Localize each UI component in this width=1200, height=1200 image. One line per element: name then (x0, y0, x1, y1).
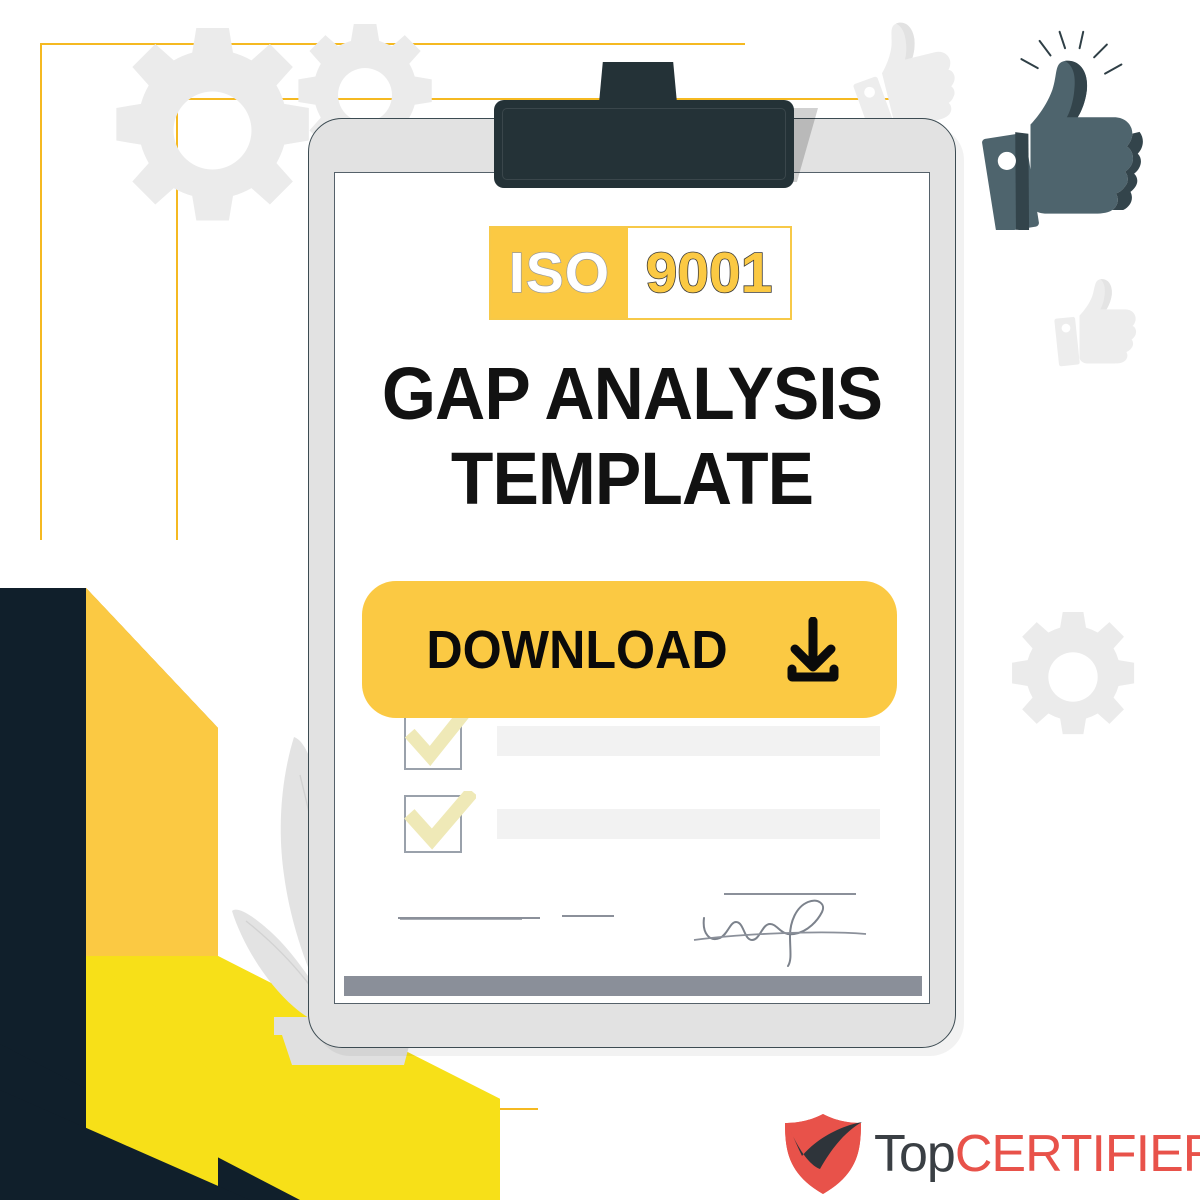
logo-text-certifier: CERTIFIER (955, 1125, 1200, 1183)
title-line-1: GAP ANALYSIS (352, 358, 912, 431)
iso-prefix-text: ISO (509, 245, 610, 302)
checkbox-2[interactable] (404, 795, 462, 853)
download-button[interactable]: DOWNLOAD (362, 581, 897, 718)
form-rule-1b (400, 918, 522, 920)
check-mark-icon (404, 791, 476, 861)
iso-number-text: 9001 (646, 245, 773, 302)
iso-standard-badge: ISO 9001 (489, 226, 792, 320)
topcertifier-logo[interactable]: TopCERTIFIER (782, 1112, 1200, 1196)
gear-icon-3 (1008, 612, 1138, 742)
paper-bottom-shadow (344, 976, 922, 996)
check-mark-icon (404, 708, 470, 776)
logo-wordmark: TopCERTIFIER (874, 1128, 1200, 1180)
shield-check-icon (782, 1112, 864, 1196)
logo-text-top: Top (874, 1125, 955, 1183)
download-button-label: DOWNLOAD (426, 619, 727, 681)
title-line-2: TEMPLATE (352, 443, 912, 516)
page-title: GAP ANALYSIS TEMPLATE (334, 358, 930, 515)
checklist-placeholder-1 (497, 726, 880, 756)
clipboard-clip-bar (494, 100, 794, 188)
checklist-item-1[interactable] (404, 712, 880, 770)
poster-canvas: ISO 9001 GAP ANALYSIS TEMPLATE (0, 0, 1200, 1200)
iso-badge-right: 9001 (628, 228, 790, 318)
signature-scribble-icon (690, 890, 870, 975)
gear-icon-1 (110, 28, 315, 233)
form-rule-2 (562, 915, 614, 917)
iso-badge-left: ISO (491, 228, 628, 318)
thumbs-up-icon-light-2 (1040, 274, 1144, 378)
checklist-item-2[interactable] (404, 795, 880, 853)
thumbs-up-icon-dark (968, 30, 1173, 230)
checkbox-1[interactable] (404, 712, 462, 770)
download-arrow-icon (782, 617, 844, 683)
checklist-placeholder-2 (497, 809, 880, 839)
